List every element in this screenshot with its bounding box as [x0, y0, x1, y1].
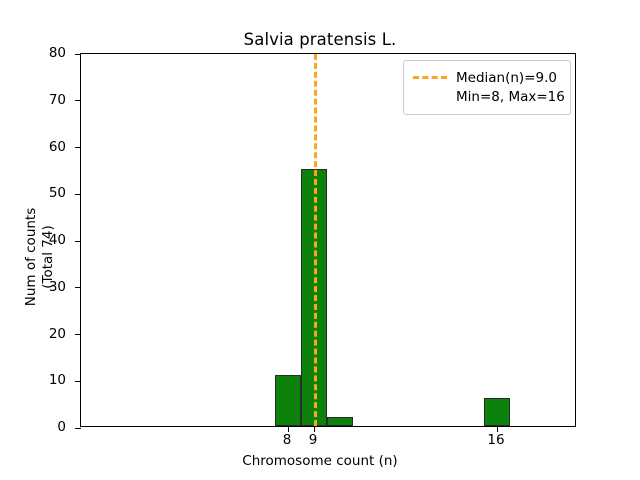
legend-entry-minmax: Min=8, Max=16 — [413, 87, 561, 106]
x-tick-label-8: 8 — [283, 432, 292, 448]
x-tick-mark-16 — [497, 426, 498, 432]
x-tick-mark-9 — [314, 426, 315, 432]
y-tick-mark-10 — [75, 381, 81, 382]
chart-figure: Salvia pratensis L. Num of counts (Total… — [0, 0, 640, 480]
x-tick-mark-8 — [288, 426, 289, 432]
x-tick-label-9: 9 — [309, 432, 318, 448]
y-tick-mark-60 — [75, 147, 81, 148]
legend-label-median: Median(n)=9.0 — [456, 70, 557, 86]
x-axis-title: Chromosome count (n) — [0, 453, 640, 469]
dashed-line-icon — [413, 76, 447, 79]
y-tick-mark-70 — [75, 100, 81, 101]
legend-entry-median: Median(n)=9.0 — [413, 68, 561, 87]
y-tick-mark-30 — [75, 287, 81, 288]
legend-label-minmax: Min=8, Max=16 — [456, 89, 565, 105]
y-tick-mark-80 — [75, 54, 81, 55]
x-tick-label-16: 16 — [487, 432, 504, 448]
y-tick-mark-40 — [75, 241, 81, 242]
y-tick-mark-0 — [75, 428, 81, 429]
median-line — [314, 54, 317, 426]
y-tick-mark-50 — [75, 194, 81, 195]
y-tick-mark-20 — [75, 334, 81, 335]
chart-legend: Median(n)=9.0 Min=8, Max=16 — [403, 60, 571, 115]
